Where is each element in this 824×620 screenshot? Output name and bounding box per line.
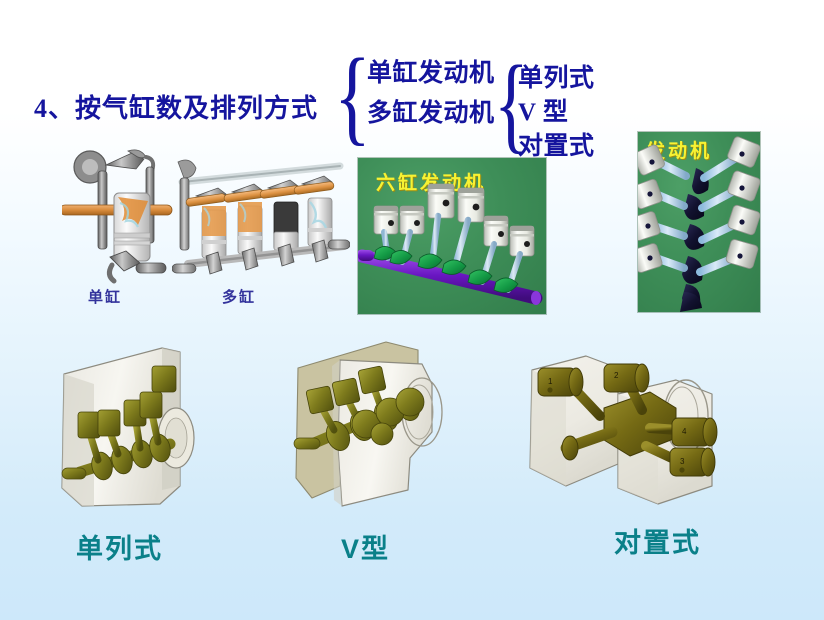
- slide-canvas: 4、按气缸数及排列方式 { 单缸发动机 多缸发动机 { 单列式 V 型 对置式: [0, 0, 824, 620]
- figure-single-cylinder: [62, 145, 190, 285]
- figure-opposed-engine: 1 2 4 3: [500, 346, 742, 518]
- caption-multi-cylinder: 多缸: [222, 286, 256, 307]
- figure-v-engine-panel: 发动机: [638, 132, 760, 312]
- figure-multi-cylinder: [172, 148, 350, 286]
- heading-level2-item-0: 单缸发动机: [367, 53, 495, 89]
- heading-level3-item-2: 对置式: [518, 126, 595, 162]
- heading-block: 4、按气缸数及排列方式 { 单缸发动机 多缸发动机 { 单列式 V 型 对置式: [34, 40, 634, 150]
- figure-inline-engine: [52, 338, 248, 514]
- cylinder-number-3: 3: [680, 457, 685, 466]
- brace-level1-icon: {: [334, 42, 371, 150]
- cylinder-number-2: 2: [614, 371, 619, 380]
- heading-level3-item-1: V 型: [518, 92, 568, 128]
- label-v-engine-block: V型: [341, 527, 390, 566]
- figure-v-engine-block: [282, 338, 472, 514]
- heading-level2-item-1: 多缸发动机: [367, 93, 495, 129]
- page-title: 4、按气缸数及排列方式: [34, 88, 318, 125]
- cylinder-number-1: 1: [548, 377, 553, 386]
- figure-six-cylinder-panel: 六缸发动机: [358, 158, 546, 314]
- caption-single-cylinder: 单缸: [88, 286, 122, 307]
- label-opposed-engine: 对置式: [614, 521, 701, 560]
- label-inline-engine: 单列式: [76, 527, 163, 566]
- cylinder-number-4: 4: [682, 427, 687, 436]
- heading-level3-item-0: 单列式: [518, 58, 595, 94]
